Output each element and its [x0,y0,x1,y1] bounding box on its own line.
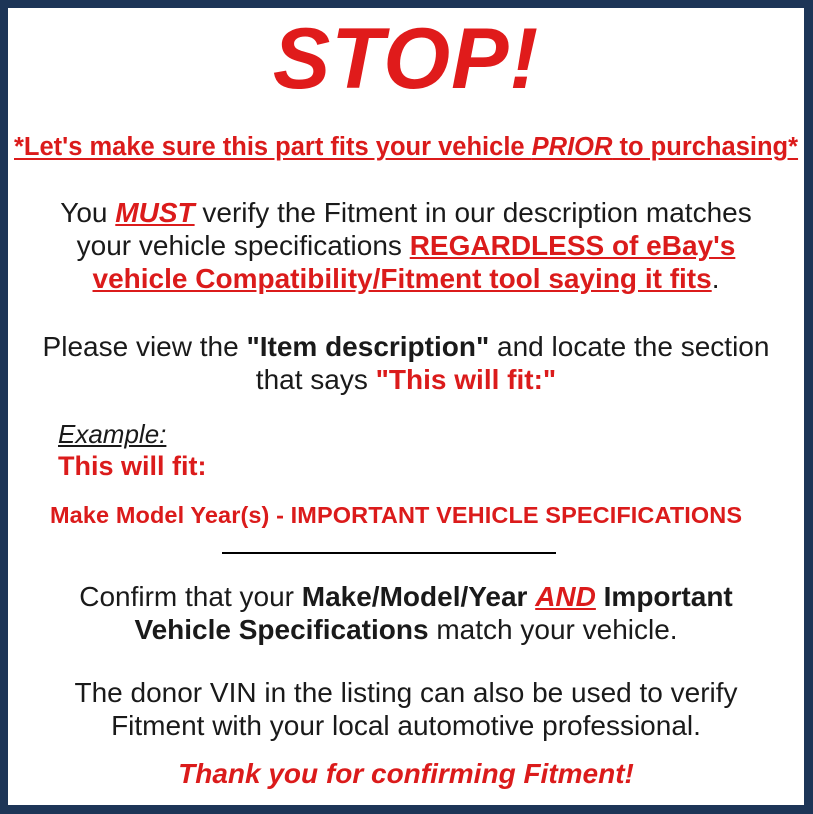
and-keyword: AND [535,581,596,612]
must-keyword: MUST [115,197,194,228]
tagline-prior-emphasis: PRIOR [532,133,613,161]
fitment-tagline-underline: *Let's make sure this part fits your veh… [14,133,798,161]
paragraph-must-verify: You MUST verify the Fitment in our descr… [30,196,782,295]
tagline-lead: *Let's make sure this part fits your veh… [14,133,532,161]
item-description-label: "Item description" [246,331,489,362]
this-will-fit-quote: "This will fit:" [376,364,557,395]
tagline-tail: to purchasing* [612,133,798,161]
paragraph-confirm: Confirm that your Make/Model/Year AND Im… [30,580,782,646]
itemdesc-seg-lead: Please view the [43,331,247,362]
section-divider [222,552,556,554]
confirm-seg-lead: Confirm that your [79,581,302,612]
fitment-notice-card: STOP! *Let's make sure this part fits yo… [8,8,804,805]
example-spec-line: Make Model Year(s) - IMPORTANT VEHICLE S… [50,502,742,529]
stop-heading: STOP! [8,16,804,102]
must-seg-lead: You [60,197,115,228]
example-this-will-fit: This will fit: [58,451,207,482]
example-label: Example: [58,420,207,449]
confirm-space-2 [596,581,604,612]
fitment-tagline: *Let's make sure this part fits your veh… [14,133,798,162]
make-model-year-label: Make/Model/Year [302,581,528,612]
confirm-seg-tail: match your vehicle. [429,614,678,645]
fitment-notice-frame: STOP! *Let's make sure this part fits yo… [0,0,813,814]
must-seg-period: . [712,263,720,294]
paragraph-donor-vin: The donor VIN in the listing can also be… [28,676,784,742]
paragraph-item-description: Please view the "Item description" and l… [26,330,786,396]
paragraph-thank-you: Thank you for confirming Fitment! [8,758,804,790]
example-block: Example: This will fit: [58,420,207,482]
